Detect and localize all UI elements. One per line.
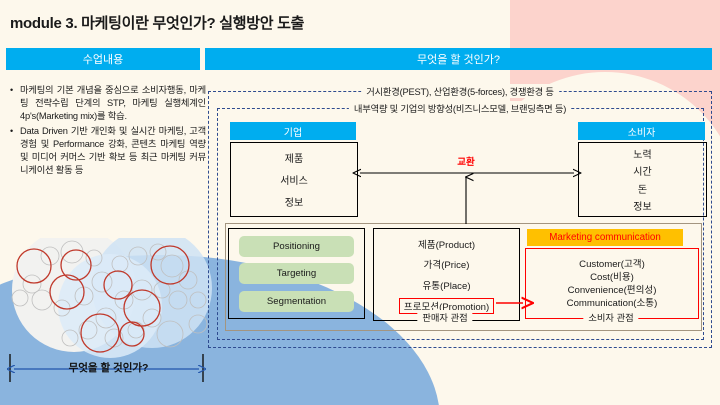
- stp-item-targeting: Targeting: [239, 263, 354, 284]
- lesson-content-list: 마케팅의 기본 개념을 중심으로 소비자행동, 마케팅 전략수립 단계의 STP…: [8, 84, 206, 178]
- bottom-scope-arrow: 무엇을 할 것인가?: [6, 352, 211, 386]
- four-p-item-product: 제품(Product): [418, 237, 475, 251]
- company-item: 정보: [285, 194, 303, 209]
- four-c-item-communication: Communication(소통): [567, 297, 658, 310]
- stp-box: Positioning Targeting Segmentation: [228, 228, 365, 319]
- four-c-item-customer: Customer(고객): [579, 258, 645, 271]
- header-lesson-content-label: 수업내용: [83, 51, 123, 67]
- company-item: 제품: [285, 150, 303, 165]
- marketing-exchange-diagram: 거시환경(PEST), 산업환경(5-forces), 경쟁환경 등 내부역량 …: [208, 91, 712, 348]
- consumer-item: 돈: [638, 181, 647, 196]
- consumer-header: 소비자: [578, 122, 705, 140]
- exchange-label: 교환: [454, 154, 477, 168]
- bubble-cluster-artwork: [2, 238, 220, 360]
- stp-item-positioning: Positioning: [239, 236, 354, 257]
- stp-item-label: Positioning: [273, 241, 320, 252]
- company-offer-box: 제품 서비스 정보: [230, 142, 358, 217]
- header-what-to-do: 무엇을 할 것인가?: [205, 48, 712, 70]
- consumer-item: 정보: [633, 198, 651, 213]
- consumer-item: 시간: [633, 163, 651, 178]
- company-item: 서비스: [280, 172, 308, 187]
- seller-perspective-caption: 판매자 관점: [417, 310, 472, 324]
- list-item: 마케팅의 기본 개념을 중심으로 소비자행동, 마케팅 전략수립 단계의 STP…: [8, 84, 206, 124]
- consumer-header-label: 소비자: [628, 124, 656, 139]
- company-header-label: 기업: [284, 124, 302, 139]
- header-what-to-do-label: 무엇을 할 것인가?: [417, 51, 500, 67]
- slide-canvas: module 3. 마케팅이란 무엇인가? 실행방안 도출 수업내용 무엇을 할…: [0, 0, 720, 405]
- four-p-item-place: 유통(Place): [422, 278, 470, 292]
- stp-item-label: Targeting: [277, 268, 316, 279]
- marketing-communication-header: Marketing communication: [527, 229, 683, 246]
- bottom-scope-arrow-label: 무엇을 할 것인가?: [6, 360, 211, 375]
- four-c-item-cost: Cost(비용): [590, 271, 634, 284]
- list-item: Data Driven 기반 개인화 및 실시간 마케팅, 고객경험 및 Per…: [8, 125, 206, 178]
- four-p-item-price: 가격(Price): [424, 257, 470, 271]
- stp-item-segmentation: Segmentation: [239, 291, 354, 312]
- four-c-box: Customer(고객) Cost(비용) Convenience(편의성) C…: [525, 248, 699, 319]
- consumer-item: 노력: [633, 146, 651, 161]
- buyer-perspective-caption: 소비자 관점: [583, 310, 638, 324]
- stp-item-label: Segmentation: [267, 296, 326, 307]
- four-p-box: 제품(Product) 가격(Price) 유통(Place) 프로모션(Pro…: [373, 228, 520, 321]
- macro-environment-label: 거시환경(PEST), 산업환경(5-forces), 경쟁환경 등: [361, 84, 559, 98]
- company-header: 기업: [230, 122, 356, 140]
- marketing-communication-header-label: Marketing communication: [549, 232, 661, 243]
- internal-capability-label: 내부역량 및 기업의 방향성(비즈니스모델, 브랜딩측면 등): [349, 101, 571, 115]
- consumer-offer-box: 노력 시간 돈 정보: [578, 142, 707, 217]
- page-title: module 3. 마케팅이란 무엇인가? 실행방안 도출: [10, 12, 304, 33]
- header-lesson-content: 수업내용: [6, 48, 200, 70]
- four-c-item-convenience: Convenience(편의성): [568, 284, 657, 297]
